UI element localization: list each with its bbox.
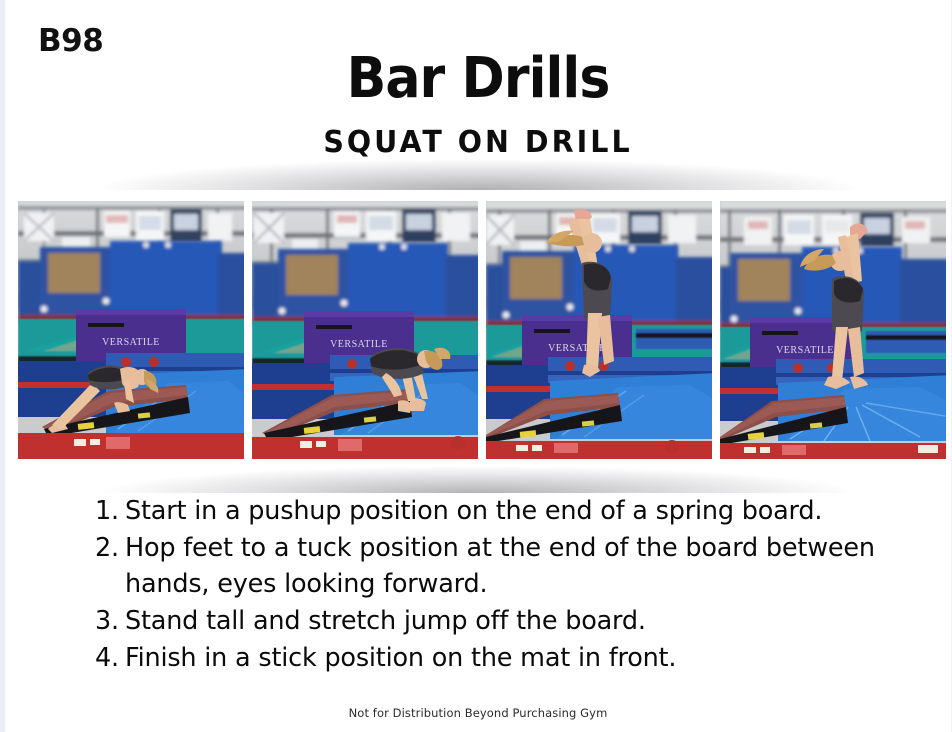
- step-number: 3.: [95, 603, 125, 640]
- gym-photo-3-graphic: VERSATILE: [486, 201, 712, 459]
- photo-step-4: VERSATILE: [720, 201, 946, 459]
- step-text: Hop feet to a tuck position at the end o…: [125, 530, 895, 603]
- gym-photo-1-graphic: VERSATILE: [18, 201, 244, 459]
- instruction-list: 1. Start in a pushup position on the end…: [95, 493, 895, 677]
- gym-photo-2-graphic: VERSATILE: [252, 201, 478, 459]
- slide-header: B98 Bar Drills SQUAT ON DRILL: [5, 0, 951, 186]
- list-item: 1. Start in a pushup position on the end…: [95, 493, 895, 530]
- photo-strip: VERSATILE: [18, 201, 946, 459]
- photo-strip-divider-shadow: [5, 459, 951, 493]
- step-number: 1.: [95, 493, 125, 530]
- page-subtitle: SQUAT ON DRILL: [29, 126, 928, 159]
- svg-text:VERSATILE: VERSATILE: [102, 337, 160, 348]
- list-item: 3. Stand tall and stretch jump off the b…: [95, 603, 895, 640]
- gym-photo-4-graphic: VERSATILE: [720, 201, 946, 459]
- photo-step-1: VERSATILE: [18, 201, 244, 459]
- list-item: 2. Hop feet to a tuck position at the en…: [95, 530, 895, 603]
- distribution-notice: Not for Distribution Beyond Purchasing G…: [5, 706, 951, 720]
- list-item: 4. Finish in a stick position on the mat…: [95, 640, 895, 677]
- step-text: Start in a pushup position on the end of…: [125, 493, 895, 530]
- step-number: 2.: [95, 530, 125, 567]
- svg-text:VERSATILE: VERSATILE: [330, 339, 388, 350]
- step-text: Stand tall and stretch jump off the boar…: [125, 603, 895, 640]
- page-title: Bar Drills: [38, 50, 918, 109]
- step-text: Finish in a stick position on the mat in…: [125, 640, 895, 677]
- slide-canvas: B98 Bar Drills SQUAT ON DRILL: [0, 0, 952, 732]
- svg-text:VERSATILE: VERSATILE: [776, 345, 834, 356]
- photo-step-3: VERSATILE: [486, 201, 712, 459]
- step-number: 4.: [95, 640, 125, 677]
- photo-step-2: VERSATILE: [252, 201, 478, 459]
